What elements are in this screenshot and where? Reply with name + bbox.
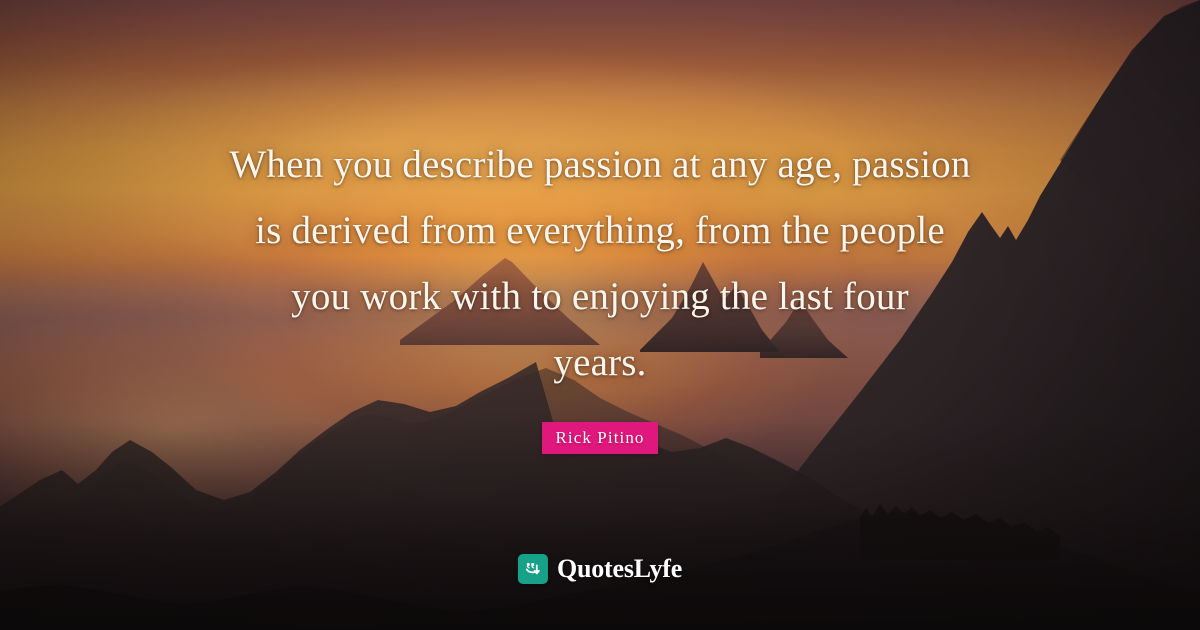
quote-smiley-icon bbox=[518, 554, 548, 584]
card-content: When you describe passion at any age, pa… bbox=[0, 0, 1200, 630]
quote-card: When you describe passion at any age, pa… bbox=[0, 0, 1200, 630]
quoteslyfe-wordmark: QuotesLyfe bbox=[557, 554, 682, 584]
author-container: Rick Pitino bbox=[542, 422, 657, 454]
quoteslyfe-logo[interactable]: QuotesLyfe bbox=[518, 554, 682, 584]
author-badge[interactable]: Rick Pitino bbox=[542, 422, 657, 454]
quote-text: When you describe passion at any age, pa… bbox=[170, 132, 1030, 396]
